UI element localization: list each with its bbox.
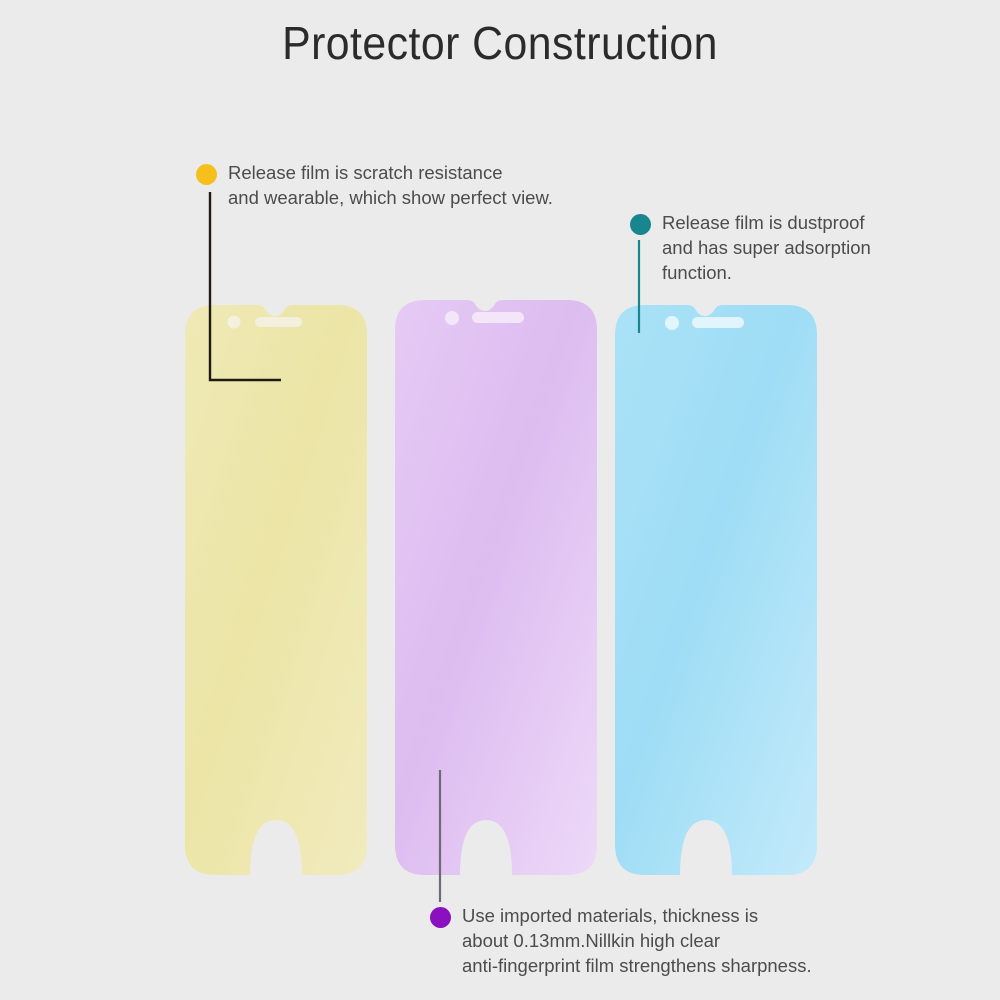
callout-purple: Use imported materials, thickness is abo… bbox=[430, 903, 910, 978]
callout-yellow-text: Release film is scratch resistance and w… bbox=[228, 160, 596, 210]
camera-hole bbox=[665, 316, 679, 330]
infographic-canvas: Protector Construction bbox=[0, 0, 1000, 1000]
earpiece-slot bbox=[472, 312, 524, 323]
bullet-dot-teal bbox=[630, 214, 651, 235]
earpiece-slot bbox=[692, 317, 744, 328]
camera-hole bbox=[445, 311, 459, 325]
bullet-dot-purple bbox=[430, 907, 451, 928]
protector-blue bbox=[615, 305, 817, 875]
callout-teal: Release film is dustproof and has super … bbox=[630, 210, 950, 285]
callout-purple-text: Use imported materials, thickness is abo… bbox=[462, 903, 910, 978]
protector-yellow bbox=[185, 305, 367, 875]
callout-yellow: Release film is scratch resistance and w… bbox=[196, 160, 596, 210]
earpiece-slot bbox=[255, 317, 302, 327]
protector-illustration bbox=[0, 0, 1000, 1000]
protector-purple bbox=[395, 300, 597, 875]
camera-hole bbox=[228, 316, 241, 329]
bullet-dot-yellow bbox=[196, 164, 217, 185]
callout-teal-text: Release film is dustproof and has super … bbox=[662, 210, 950, 285]
